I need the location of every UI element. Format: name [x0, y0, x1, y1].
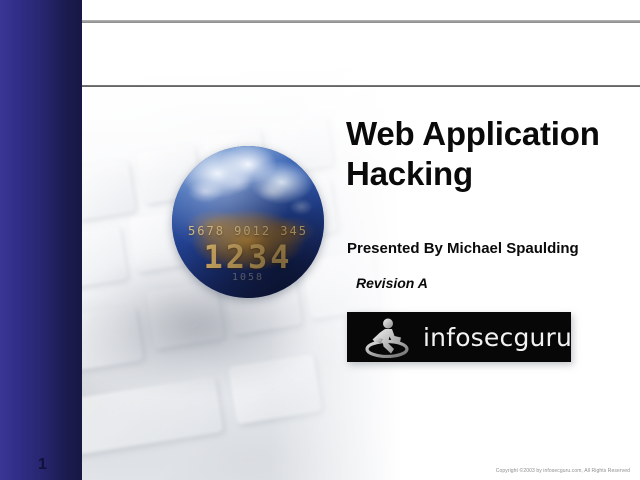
copyright-notice: Copyright ©2003 by infosecguru.com, All …	[496, 468, 630, 474]
globe-shading	[172, 146, 324, 298]
slide-title-line-2: Hacking	[346, 154, 630, 194]
slide-number: 1	[38, 456, 47, 474]
slide-title-line-1: Web Application	[346, 114, 630, 154]
header-divider-top	[82, 20, 640, 23]
credit-card-globe-image: 5678 9012 345 1234 1058	[172, 146, 324, 298]
header-divider-second	[82, 85, 640, 87]
infosecguru-logo: infosecguru	[347, 312, 571, 362]
slide-title: Web Application Hacking	[346, 114, 630, 195]
left-gradient-bar: 1	[0, 0, 82, 480]
running-person-icon	[361, 316, 413, 358]
presenter-line: Presented By Michael Spaulding	[347, 240, 579, 257]
presentation-slide: 1 5678 9012 345 1234 1058 Web Applicatio…	[0, 0, 640, 480]
revision-label: Revision A	[356, 275, 428, 291]
infosecguru-wordmark: infosecguru	[423, 323, 572, 352]
